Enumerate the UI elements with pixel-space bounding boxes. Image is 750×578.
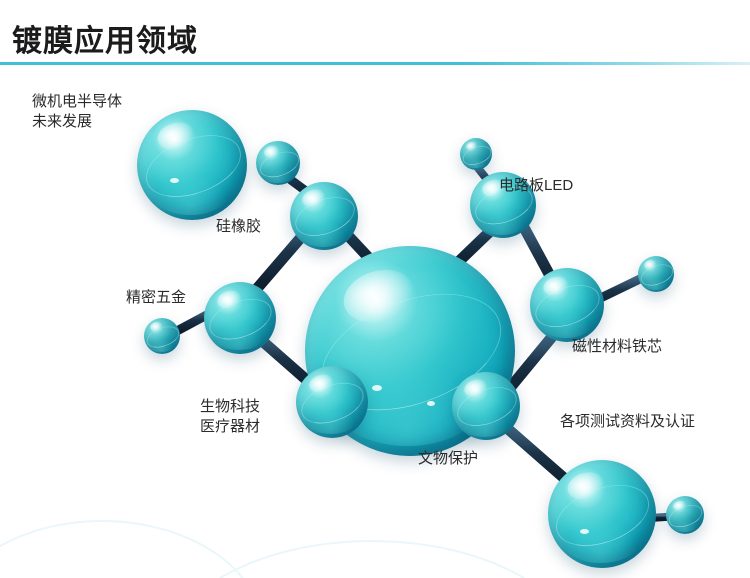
atom-precision-hardware-satellite <box>144 318 180 354</box>
atom-magnetic-core-satellite <box>638 256 674 292</box>
atom-highlight-ring <box>452 380 522 433</box>
atom-glint <box>372 385 382 391</box>
atom-highlight-ring <box>530 277 606 335</box>
label-cultural-relic: 文物保护 <box>418 449 478 469</box>
molecule-illustration: 微机电半导体 未来发展 硅橡胶 电路板LED 精密五金 磁性材料铁芯 生物科技 … <box>0 60 750 578</box>
atom-pcb-led-satellite <box>460 138 492 170</box>
label-pcb-led: 电路板LED <box>499 176 573 196</box>
atom-precision-hardware <box>204 282 276 354</box>
atom-highlight-ring <box>256 146 302 181</box>
header: 镀膜应用领域 <box>0 0 750 66</box>
atom-mems <box>137 110 247 220</box>
atom-glint <box>580 529 589 534</box>
label-silicone-rubber: 硅橡胶 <box>216 217 261 237</box>
label-precision-hardware: 精密五金 <box>126 288 186 308</box>
atom-glint <box>427 401 435 406</box>
atom-magnetic-core <box>530 268 604 342</box>
atom-silicone-rubber <box>290 182 358 250</box>
atom-testing-certification <box>548 460 656 568</box>
label-magnetic-core: 磁性材料铁芯 <box>572 337 662 357</box>
atom-highlight-ring <box>204 291 278 347</box>
atom-highlight-ring <box>548 473 658 557</box>
atom-highlight-ring <box>296 375 370 431</box>
atom-highlight-ring <box>290 190 360 243</box>
label-mems: 微机电半导体 未来发展 <box>32 92 122 132</box>
atom-glint <box>170 178 179 183</box>
atom-biotech-medical <box>296 366 368 438</box>
atom-highlight-ring <box>137 123 249 208</box>
slide-canvas: 镀膜应用领域 <box>0 0 750 578</box>
atom-testing-certification-satellite <box>666 496 704 534</box>
label-biotech-medical: 生物科技 医疗器材 <box>200 397 260 437</box>
atom-cultural-relic <box>452 372 520 440</box>
page-title: 镀膜应用领域 <box>12 16 198 60</box>
atom-mems-satellite <box>256 141 300 185</box>
label-testing-certification: 各项测试资料及认证 <box>560 412 695 432</box>
